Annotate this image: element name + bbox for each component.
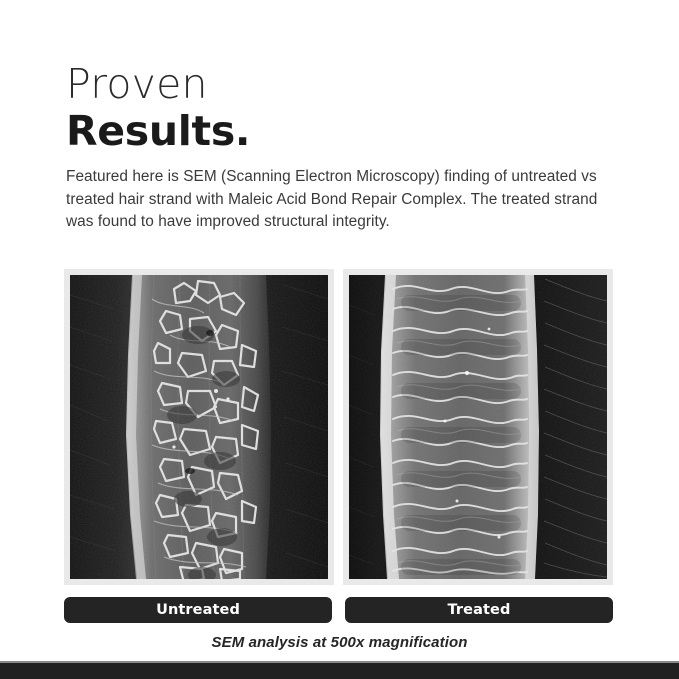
bottom-bar [0, 663, 679, 679]
body-paragraph: Featured here is SEM (Scanning Electron … [66, 166, 618, 234]
magnification-caption: SEM analysis at 500x magnification [0, 634, 679, 651]
page-title: Proven Results. [66, 62, 626, 154]
label-treated: Treated [345, 597, 613, 623]
sem-comparison-panels [64, 269, 613, 585]
sem-panel-untreated [64, 269, 334, 585]
panel-label-row: Untreated Treated [64, 597, 613, 623]
title-line-proven: Proven [66, 62, 626, 106]
title-line-results: Results. [66, 108, 626, 154]
sem-untreated-hair-strand [70, 275, 328, 579]
sem-treated-hair-strand [349, 275, 607, 579]
sem-panel-treated [343, 269, 613, 585]
product-detail-image: Proven Results. Featured here is SEM (Sc… [0, 0, 679, 679]
label-untreated: Untreated [64, 597, 332, 623]
